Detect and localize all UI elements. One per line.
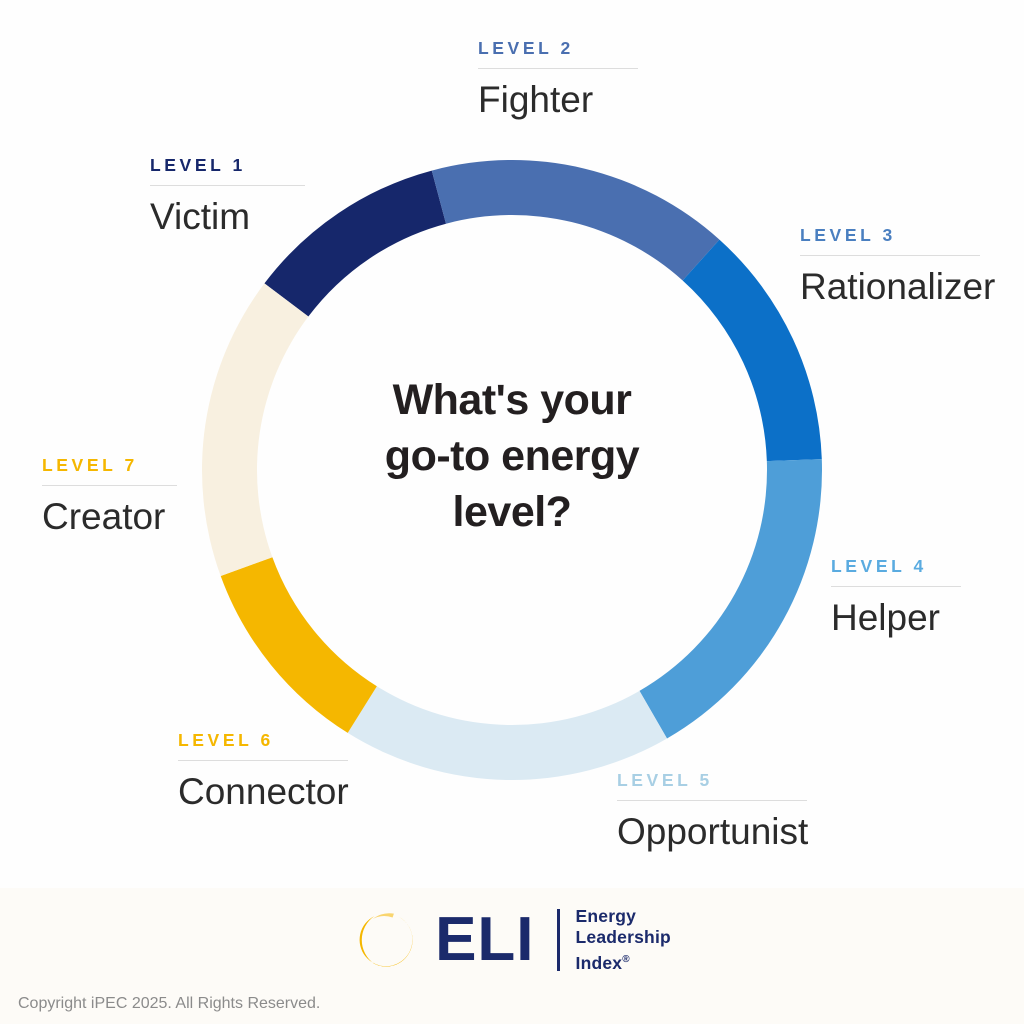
level-1-name: Victim	[150, 195, 305, 239]
center-question-line-1: What's your	[332, 372, 692, 428]
tagline-line-3-text: Index	[576, 953, 623, 973]
donut-segment-level-2[interactable]	[432, 160, 720, 280]
level-4-name: Helper	[831, 596, 961, 640]
level-6-rule	[178, 760, 348, 761]
level-7-kicker: LEVEL 7	[42, 455, 177, 475]
donut-segment-level-5[interactable]	[348, 686, 667, 780]
level-6-name: Connector	[178, 770, 348, 814]
level-label-2: LEVEL 2 Fighter	[478, 38, 638, 122]
level-3-kicker: LEVEL 3	[800, 225, 980, 245]
level-label-6: LEVEL 6 Connector	[178, 730, 348, 814]
level-label-7: LEVEL 7 Creator	[42, 455, 177, 539]
eli-logo: ELI Energy Leadership Index®	[0, 897, 1024, 983]
level-4-rule	[831, 586, 961, 587]
level-2-name: Fighter	[478, 78, 638, 122]
level-2-kicker: LEVEL 2	[478, 38, 638, 58]
level-4-kicker: LEVEL 4	[831, 556, 961, 576]
logo-divider	[557, 909, 560, 971]
level-7-name: Creator	[42, 495, 177, 539]
tagline-line-2: Leadership	[576, 927, 671, 949]
donut-segment-level-7[interactable]	[202, 283, 308, 576]
level-label-5: LEVEL 5 Opportunist	[617, 770, 807, 854]
eli-wordmark: ELI	[435, 909, 534, 971]
center-question: What's your go-to energy level?	[332, 372, 692, 540]
center-question-line-2: go-to energy	[332, 428, 692, 484]
level-2-rule	[478, 68, 638, 69]
level-5-name: Opportunist	[617, 810, 807, 854]
infographic-canvas: What's your go-to energy level? LEVEL 1 …	[0, 0, 1024, 1024]
trademark-symbol: ®	[622, 954, 630, 965]
donut-segment-level-6[interactable]	[221, 557, 377, 733]
center-question-line-3: level?	[332, 484, 692, 540]
level-5-rule	[617, 800, 807, 801]
tagline-line-1: Energy	[576, 906, 671, 928]
level-3-rule	[800, 255, 980, 256]
level-label-1: LEVEL 1 Victim	[150, 155, 305, 239]
level-label-4: LEVEL 4 Helper	[831, 556, 961, 640]
level-label-3: LEVEL 3 Rationalizer	[800, 225, 980, 309]
level-7-rule	[42, 485, 177, 486]
copyright-notice: Copyright iPEC 2025. All Rights Reserved…	[18, 995, 320, 1013]
tagline-line-3: Index®	[576, 949, 671, 974]
level-6-kicker: LEVEL 6	[178, 730, 348, 750]
level-3-name: Rationalizer	[800, 265, 980, 309]
level-1-rule	[150, 185, 305, 186]
eli-brushstroke-circle-icon	[353, 907, 419, 973]
level-1-kicker: LEVEL 1	[150, 155, 305, 175]
level-5-kicker: LEVEL 5	[617, 770, 807, 790]
eli-tagline: Energy Leadership Index®	[576, 906, 671, 974]
